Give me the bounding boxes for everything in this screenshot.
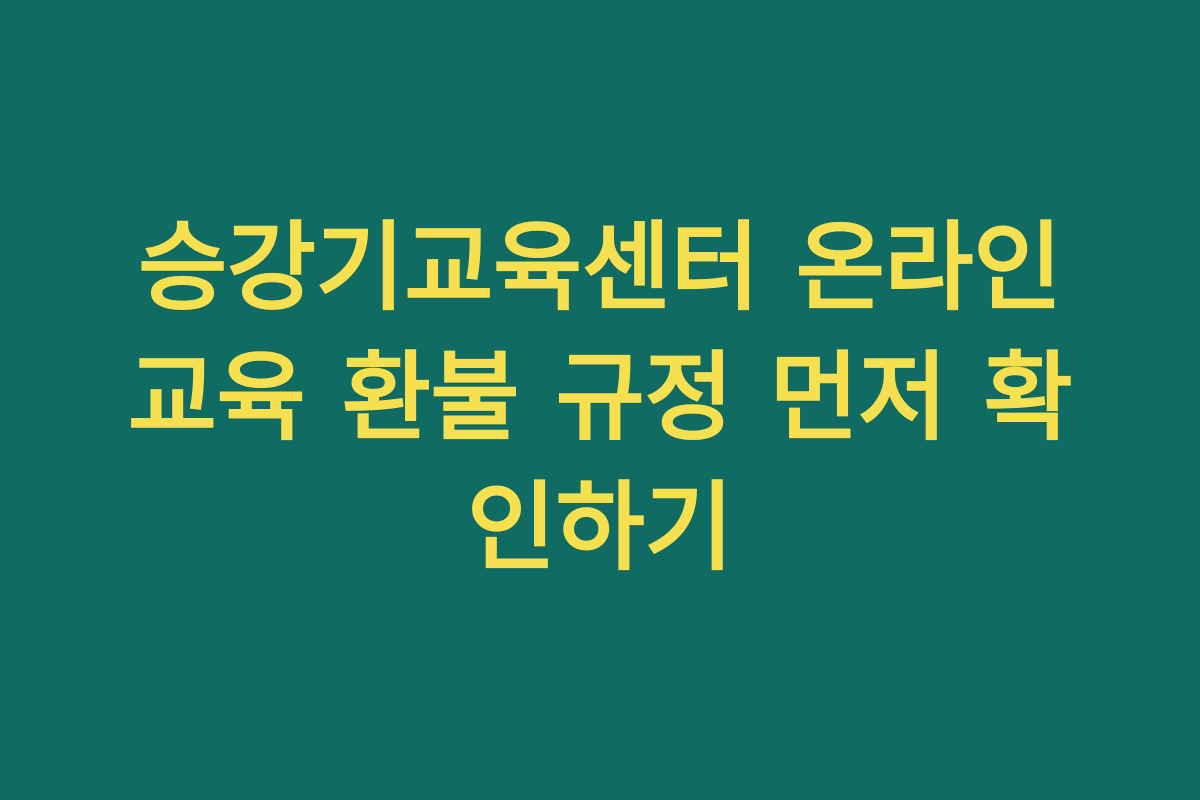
title-card-banner: 승강기교육센터 온라인 교육 환불 규정 먼저 확인하기 bbox=[0, 0, 1200, 800]
headline-block: 승강기교육센터 온라인 교육 환불 규정 먼저 확인하기 bbox=[110, 203, 1090, 593]
page-title: 승강기교육센터 온라인 교육 환불 규정 먼저 확인하기 bbox=[110, 203, 1090, 593]
